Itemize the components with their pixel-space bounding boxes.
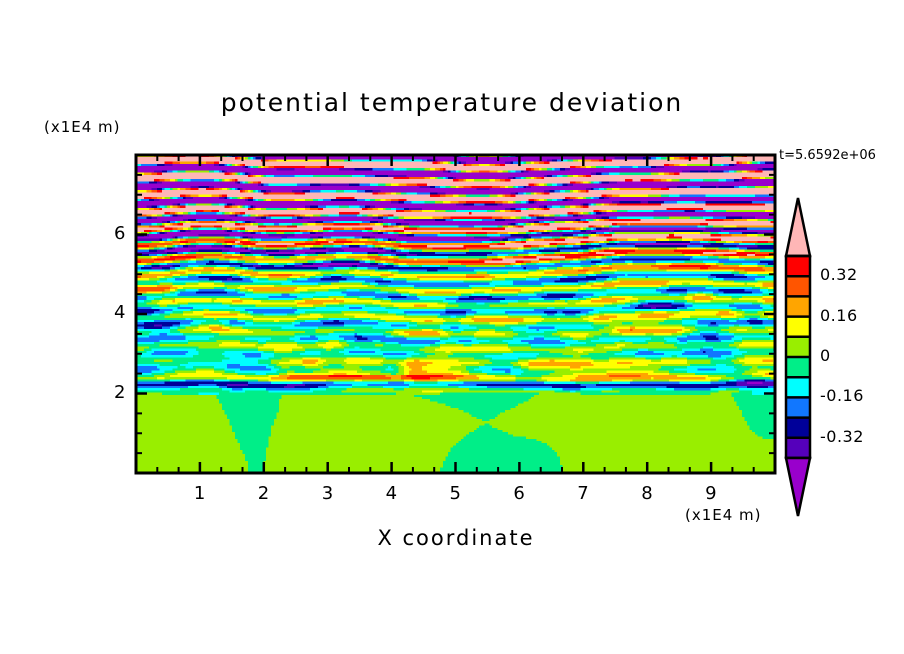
colorbar-tick-label: 0.16 [820,306,858,325]
x-tick-label: 7 [577,483,588,504]
y-tick-label: 6 [114,223,125,244]
y-tick-label: 4 [114,302,125,323]
x-tick-label: 4 [386,483,397,504]
colorbar-tick-label: -0.32 [820,427,864,446]
y-tick-label: 2 [114,382,125,403]
colorbar-tick-label: 0 [820,346,831,365]
x-tick-label: 2 [258,483,269,504]
x-tick-label: 3 [322,483,333,504]
x-tick-label: 5 [450,483,461,504]
x-tick-label: 8 [641,483,652,504]
figure-canvas: potential temperature deviation (x1E4 m)… [0,0,904,654]
plot-svg [0,0,904,654]
contour-field [136,155,776,475]
colorbar [786,198,810,516]
x-tick-label: 9 [705,483,716,504]
colorbar-tick-label: 0.32 [820,265,858,284]
x-tick-label: 6 [513,483,524,504]
colorbar-tick-label: -0.16 [820,386,864,405]
x-tick-label: 1 [194,483,205,504]
